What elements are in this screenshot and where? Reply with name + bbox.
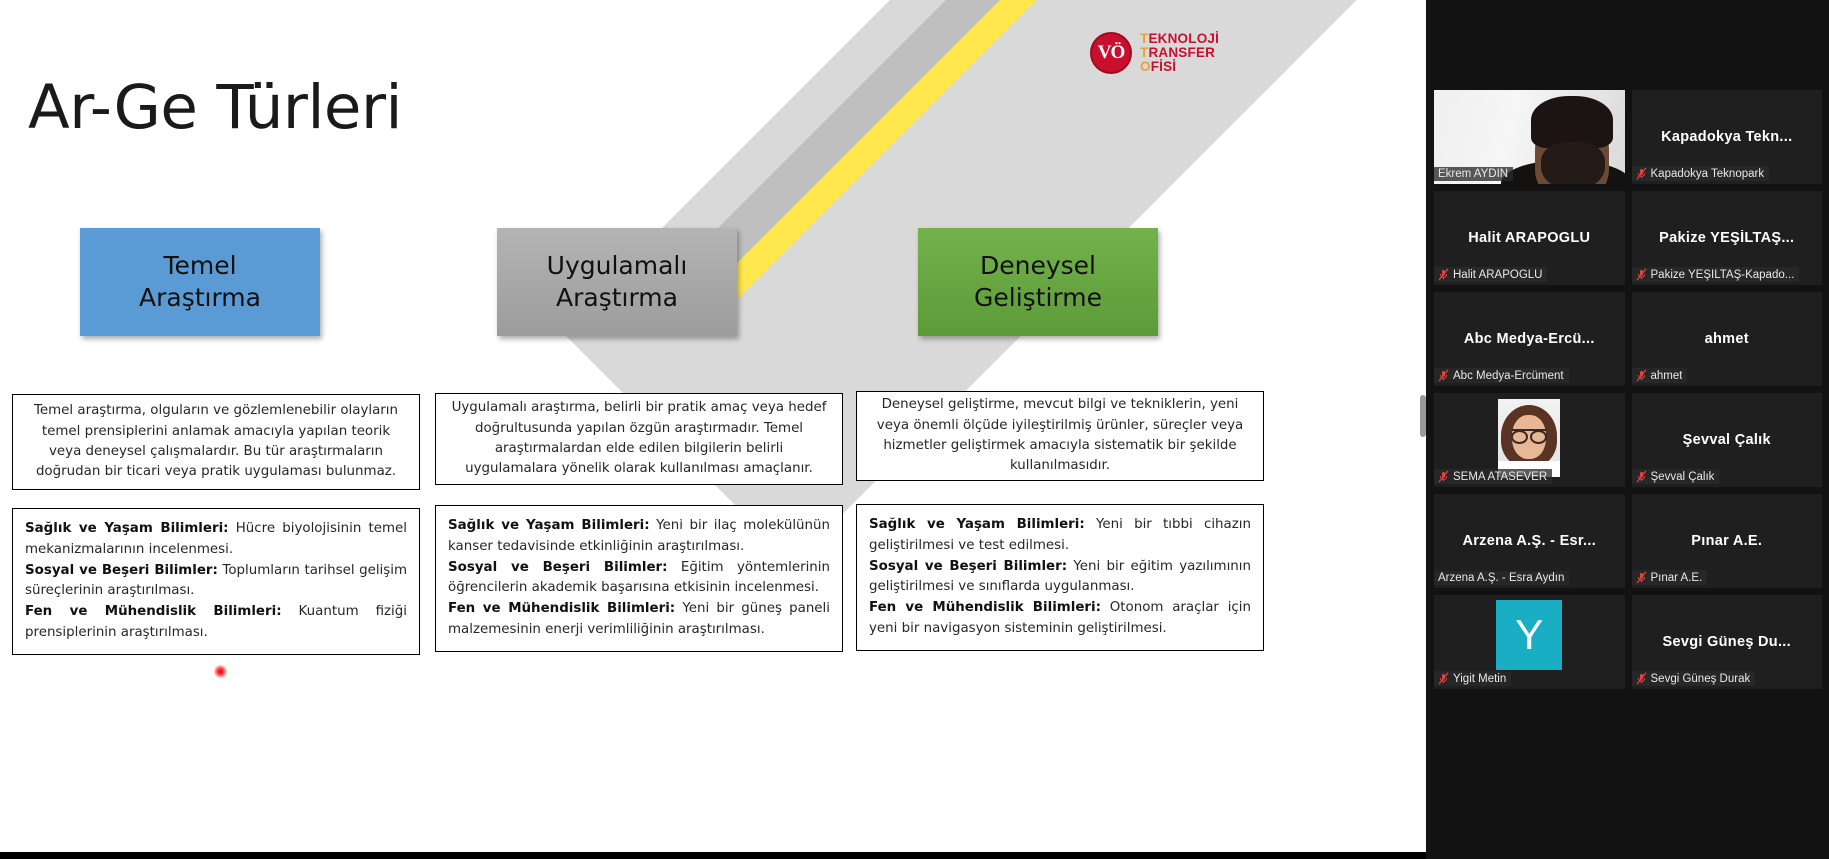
mic-muted-icon	[1636, 470, 1647, 483]
example-label: Fen ve Mühendislik Bilimleri:	[869, 600, 1101, 615]
participant-name-chip: Kapadokya Teknopark	[1632, 166, 1770, 181]
participant-tile[interactable]: Şevval ÇalıkŞevval Çalık	[1632, 393, 1823, 487]
participant-tile[interactable]: Abc Medya-Ercü...Abc Medya-Ercüment	[1434, 292, 1625, 386]
example-label: Sosyal ve Beşeri Bilimler:	[25, 563, 218, 578]
category-label-line1: Uygulamalı	[547, 250, 688, 282]
participant-name-chip: Pakize YEŞİLTAŞ-Kapado...	[1632, 267, 1800, 282]
slide-scrollbar-thumb[interactable]	[1420, 395, 1426, 437]
column-uygulamali-arastirma: Uygulamalı Araştırma Uygulamalı araştırm…	[435, 228, 843, 652]
example-label: Sosyal ve Beşeri Bilimler:	[448, 560, 667, 575]
shared-screen-slide: VÖ TEKNOLOJİ TRANSFER OFİSİ Ar-Ge Türler…	[0, 0, 1426, 852]
participant-display-name: Sevgi Güneş Du...	[1632, 634, 1823, 650]
participant-footer-name: Ekrem AYDIN	[1438, 168, 1508, 180]
mic-muted-icon	[1636, 167, 1647, 180]
example-row: Sosyal ve Beşeri Bilimler: Eğitim yöntem…	[448, 558, 830, 600]
participant-footer-name: Abc Medya-Ercüment	[1453, 370, 1564, 382]
mic-muted-icon	[1636, 672, 1647, 685]
participant-footer-name: Şevval Çalık	[1651, 471, 1715, 483]
participant-name-chip: Sevgi Güneş Durak	[1632, 671, 1756, 686]
panel-scrollbar[interactable]	[1823, 0, 1828, 859]
example-label: Fen ve Mühendislik Bilimleri:	[448, 601, 675, 616]
description-text-1: Uygulamalı araştırma, belirli bir pratik…	[448, 398, 830, 480]
participant-name-chip: Abc Medya-Ercüment	[1434, 368, 1569, 383]
participant-name-chip: Şevval Çalık	[1632, 469, 1720, 484]
category-label-line1: Deneysel	[980, 250, 1096, 282]
example-row: Sağlık ve Yaşam Bilimleri: Yeni bir tıbb…	[869, 515, 1251, 557]
examples-box-1: Sağlık ve Yaşam Bilimleri: Yeni bir ilaç…	[435, 505, 843, 652]
description-text-2: Deneysel geliştirme, mevcut bilgi ve tek…	[869, 395, 1251, 477]
participant-display-name: Arzena A.Ş. - Esr...	[1434, 533, 1625, 549]
participant-display-name: Pınar A.E.	[1632, 533, 1823, 549]
logo-line2-rest: RANSFER	[1148, 45, 1215, 60]
example-row: Sosyal ve Beşeri Bilimler: Toplumların t…	[25, 561, 407, 603]
category-label-line1: Temel	[163, 250, 236, 282]
category-label-line2: Geliştirme	[974, 282, 1102, 314]
example-label: Fen ve Mühendislik Bilimleri:	[25, 604, 282, 619]
example-row: Fen ve Mühendislik Bilimleri: Yeni bir g…	[448, 599, 830, 641]
mic-muted-icon	[1438, 369, 1449, 382]
example-row: Sosyal ve Beşeri Bilimler: Yeni bir eğit…	[869, 557, 1251, 599]
examples-box-0: Sağlık ve Yaşam Bilimleri: Hücre biyoloj…	[12, 508, 420, 655]
participant-name-chip: Arzena A.Ş. - Esra Aydın	[1434, 571, 1569, 585]
mic-muted-icon	[1636, 268, 1647, 281]
example-label: Sosyal ve Beşeri Bilimler:	[869, 559, 1067, 574]
logo-line1-rest: EKNOLOJİ	[1148, 31, 1219, 46]
participant-footer-name: Kapadokya Teknopark	[1651, 168, 1765, 180]
participant-name-chip: Pınar A.E.	[1632, 570, 1708, 585]
participant-display-name: ahmet	[1632, 331, 1823, 347]
participant-tile-grid: Ekrem AYDINKapadokya Tekn...Kapadokya Te…	[1434, 90, 1822, 689]
example-row: Sağlık ve Yaşam Bilimleri: Hücre biyoloj…	[25, 519, 407, 561]
category-label-line2: Araştırma	[556, 282, 678, 314]
logo-line3-rest: FİSİ	[1151, 59, 1177, 74]
logo-line3-lead: O	[1140, 59, 1151, 74]
category-box-uygulamali-arastirma: Uygulamalı Araştırma	[497, 228, 737, 336]
description-box-1: Uygulamalı araştırma, belirli bir pratik…	[435, 393, 843, 485]
mic-muted-icon	[1438, 672, 1449, 685]
logo-wordmark: TEKNOLOJİ TRANSFER OFİSİ	[1140, 32, 1219, 73]
mic-muted-icon	[1438, 470, 1449, 483]
university-seal-icon: VÖ	[1090, 32, 1132, 74]
laser-pointer-dot	[214, 665, 227, 678]
tto-logo: VÖ TEKNOLOJİ TRANSFER OFİSİ	[1090, 32, 1219, 74]
example-row: Fen ve Mühendislik Bilimleri: Otonom ara…	[869, 598, 1251, 640]
description-text-0: Temel araştırma, olguların ve gözlemlene…	[25, 401, 407, 483]
app-root: VÖ TEKNOLOJİ TRANSFER OFİSİ Ar-Ge Türler…	[0, 0, 1829, 859]
participant-footer-name: SEMA ATASEVER	[1453, 471, 1547, 483]
participant-tile[interactable]: Pakize YEŞİLTAŞ...Pakize YEŞİLTAŞ-Kapado…	[1632, 191, 1823, 285]
participant-display-name: Kapadokya Tekn...	[1632, 129, 1823, 145]
mic-muted-icon	[1438, 268, 1449, 281]
participant-name-chip: Yigit Metin	[1434, 671, 1511, 686]
column-temel-arastirma: Temel Araştırma Temel araştırma, olgular…	[12, 228, 420, 655]
participant-tile[interactable]: Sevgi Güneş Du...Sevgi Güneş Durak	[1632, 595, 1823, 689]
participant-tile[interactable]: Halit ARAPOGLUHalit ARAPOGLU	[1434, 191, 1625, 285]
participant-display-name: Halit ARAPOGLU	[1434, 230, 1625, 246]
participant-display-name: Şevval Çalık	[1632, 432, 1823, 448]
category-box-temel-arastirma: Temel Araştırma	[80, 228, 320, 336]
participant-tile[interactable]: ahmetahmet	[1632, 292, 1823, 386]
participant-display-name: Pakize YEŞİLTAŞ...	[1632, 230, 1823, 246]
participant-name-chip: Halit ARAPOGLU	[1434, 267, 1547, 282]
description-box-2: Deneysel geliştirme, mevcut bilgi ve tek…	[856, 391, 1264, 481]
participant-name-chip: ahmet	[1632, 368, 1688, 383]
examples-box-2: Sağlık ve Yaşam Bilimleri: Yeni bir tıbb…	[856, 504, 1264, 651]
participant-letter-avatar: Y	[1496, 600, 1562, 670]
mic-muted-icon	[1636, 369, 1647, 382]
category-label-line2: Araştırma	[139, 282, 261, 314]
participant-tile[interactable]: Kapadokya Tekn...Kapadokya Teknopark	[1632, 90, 1823, 184]
participant-footer-name: ahmet	[1651, 370, 1683, 382]
participant-display-name: Abc Medya-Ercü...	[1434, 331, 1625, 347]
participant-profile-photo	[1498, 399, 1560, 477]
participant-footer-name: Yigit Metin	[1453, 673, 1506, 685]
example-label: Sağlık ve Yaşam Bilimleri:	[25, 521, 229, 536]
example-label: Sağlık ve Yaşam Bilimleri:	[869, 517, 1085, 532]
participant-tile[interactable]: YYigit Metin	[1434, 595, 1625, 689]
participant-footer-name: Arzena A.Ş. - Esra Aydın	[1438, 572, 1564, 584]
participant-tile[interactable]: SEMA ATASEVER	[1434, 393, 1625, 487]
mic-muted-icon	[1636, 571, 1647, 584]
participant-tile[interactable]: Pınar A.E.Pınar A.E.	[1632, 494, 1823, 588]
example-row: Sağlık ve Yaşam Bilimleri: Yeni bir ilaç…	[448, 516, 830, 558]
participant-footer-name: Pınar A.E.	[1651, 572, 1703, 584]
participant-name-chip: Ekrem AYDIN	[1434, 167, 1513, 181]
page-title: Ar-Ge Türleri	[28, 72, 402, 143]
description-box-0: Temel araştırma, olguların ve gözlemlene…	[12, 394, 420, 490]
example-label: Sağlık ve Yaşam Bilimleri:	[448, 518, 650, 533]
participant-tile[interactable]: Arzena A.Ş. - Esr...Arzena A.Ş. - Esra A…	[1434, 494, 1625, 588]
participant-footer-name: Halit ARAPOGLU	[1453, 269, 1542, 281]
participant-footer-name: Sevgi Güneş Durak	[1651, 673, 1751, 685]
slide-bottom-edge	[0, 852, 1426, 859]
example-row: Fen ve Mühendislik Bilimleri: Kuantum fi…	[25, 602, 407, 644]
category-box-deneysel-gelistirme: Deneysel Geliştirme	[918, 228, 1158, 336]
participants-panel: Ekrem AYDINKapadokya Tekn...Kapadokya Te…	[1426, 0, 1829, 859]
participant-tile[interactable]: Ekrem AYDIN	[1434, 90, 1625, 184]
participant-name-chip: SEMA ATASEVER	[1434, 469, 1552, 484]
column-deneysel-gelistirme: Deneysel Geliştirme Deneysel geliştirme,…	[856, 228, 1264, 651]
participant-footer-name: Pakize YEŞİLTAŞ-Kapado...	[1651, 269, 1795, 281]
